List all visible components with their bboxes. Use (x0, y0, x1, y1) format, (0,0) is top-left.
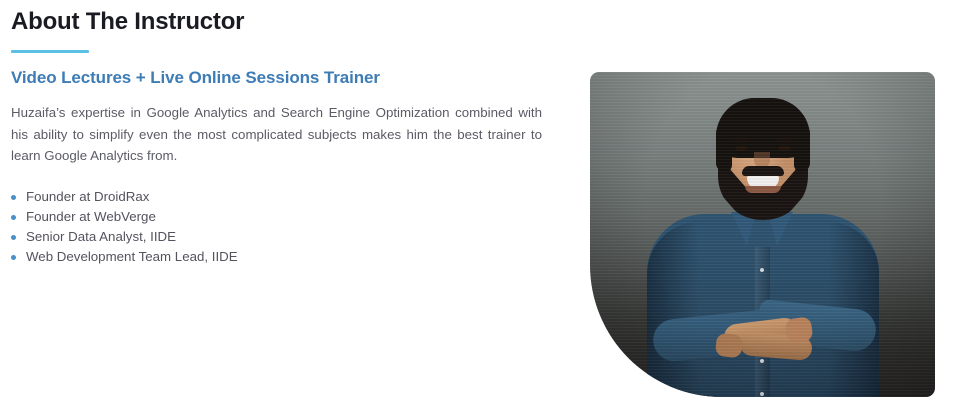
portrait-lower-lip (745, 186, 781, 193)
portrait-shirt-button (760, 268, 764, 272)
list-item-label: Founder at DroidRax (26, 189, 149, 204)
instructor-description: Huzaifa’s expertise in Google Analytics … (11, 89, 542, 167)
list-item: Founder at WebVerge (11, 207, 571, 227)
portrait-shirt-shadow-left (647, 222, 699, 397)
bullet-dot-icon (11, 235, 16, 240)
portrait-eye-left (735, 146, 748, 151)
bullet-dot-icon (11, 215, 16, 220)
list-item: Senior Data Analyst, IIDE (11, 227, 571, 247)
instructor-credentials-list: Founder at DroidRax Founder at WebVerge … (11, 167, 571, 268)
list-item-label: Senior Data Analyst, IIDE (26, 229, 176, 244)
portrait-hair-side-left (716, 124, 732, 172)
list-item: Web Development Team Lead, IIDE (11, 247, 571, 267)
portrait-mustache (742, 166, 784, 176)
portrait-hair-side-right (794, 124, 810, 172)
list-item-label: Web Development Team Lead, IIDE (26, 249, 238, 264)
portrait-hand-right (715, 333, 743, 359)
instructor-text-column: About The Instructor Video Lectures + Li… (11, 0, 571, 268)
instructor-subtitle: Video Lectures + Live Online Sessions Tr… (11, 53, 571, 89)
about-instructor-section: About The Instructor Video Lectures + Li… (0, 0, 963, 417)
bullet-dot-icon (11, 195, 16, 200)
portrait-shirt-button (760, 359, 764, 363)
list-item: Founder at DroidRax (11, 187, 571, 207)
bullet-dot-icon (11, 255, 16, 260)
portrait-shirt-button (760, 392, 764, 396)
instructor-portrait-illustration (590, 72, 935, 397)
instructor-photo (590, 72, 935, 397)
portrait-eye-right (778, 146, 791, 151)
page-title: About The Instructor (11, 0, 571, 37)
list-item-label: Founder at WebVerge (26, 209, 156, 224)
